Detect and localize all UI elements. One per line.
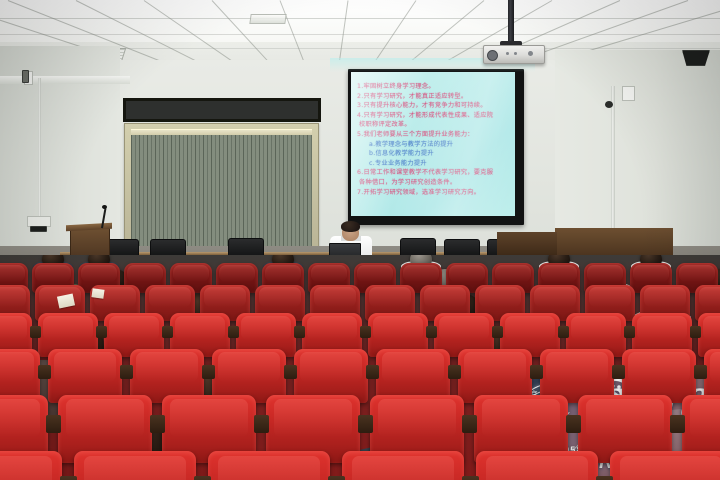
- seat-armrest: [558, 326, 569, 337]
- seat-armrest: [566, 415, 581, 433]
- projector-indicator: [514, 52, 517, 55]
- wall-conduit: [38, 78, 41, 228]
- ceiling-grid-line: [0, 34, 720, 35]
- slide-text-block: 1.牢固树立终身学习理念。2.只有学习研究，才能真正适应转型。3.只有提升核心能…: [357, 82, 509, 197]
- slide-line: 1.牢固树立终身学习理念。: [357, 82, 509, 92]
- slide-line: 3.只有提升核心能力，才有竞争力和可持续。: [357, 101, 509, 111]
- seat-armrest: [690, 326, 701, 337]
- audience-papers: [91, 288, 104, 299]
- wall-junction-box: [622, 86, 635, 101]
- wall-blackboard: [123, 98, 321, 122]
- slide-line: 6.日常工作和课堂教学不代表学习研究，要克服: [357, 168, 509, 178]
- slide-line: 各种借口，为学习研究创造条件。: [357, 178, 509, 188]
- seat-armrest: [46, 415, 61, 433]
- seat-armrest: [670, 415, 685, 433]
- seat-armrest: [150, 415, 165, 433]
- slide-line: 7.开拓学习研究领域，选准学习研究方向。: [357, 188, 509, 198]
- seat-armrest: [462, 476, 479, 480]
- seat-armrest: [30, 326, 41, 337]
- seat-armrest: [96, 326, 107, 337]
- slide-line: b.信息化教学能力提升: [357, 149, 509, 159]
- stage-curtain-panel: [131, 135, 312, 251]
- seat-armrest: [228, 326, 239, 337]
- seat-armrest: [694, 365, 707, 379]
- seat-armrest: [162, 326, 173, 337]
- auditorium-seat[interactable]: [208, 451, 330, 480]
- seat-armrest: [202, 365, 215, 379]
- wall-speaker: [22, 70, 29, 83]
- slide-line: 4.只有学习研究，才能形成代表性成果、适应院: [357, 111, 509, 121]
- projection-screen[interactable]: 1.牢固树立终身学习理念。2.只有学习研究，才能真正适应转型。3.只有提升核心能…: [351, 72, 515, 216]
- slide-line: a.教学理念与教学方法的提升: [357, 140, 509, 150]
- seat-armrest: [360, 326, 371, 337]
- seat-armrest: [38, 365, 51, 379]
- head-table-chair: [444, 239, 480, 256]
- ceiling-light-fixture: [249, 14, 286, 24]
- seat-armrest: [492, 326, 503, 337]
- seat-armrest: [448, 365, 461, 379]
- ceiling-camera: [605, 101, 613, 108]
- projector-indicator: [528, 51, 533, 56]
- projector-mount-pole: [508, 0, 514, 44]
- slide-line: 2.只有学习研究，才能真正适应转型。: [357, 92, 509, 102]
- seat-armrest: [294, 326, 305, 337]
- seat-armrest: [120, 365, 133, 379]
- seat-armrest: [254, 415, 269, 433]
- slide-line: 5.我们老师要从三个方面提升业务能力：: [357, 130, 509, 140]
- seat-armrest: [612, 365, 625, 379]
- seat-armrest: [624, 326, 635, 337]
- slide-line: 校职称评定改革。: [357, 120, 509, 130]
- ceiling-projector: [483, 45, 545, 64]
- head-table-chair: [150, 239, 186, 256]
- seat-armrest: [328, 476, 345, 480]
- seat-armrest: [596, 476, 613, 480]
- wall-outlet: [30, 226, 47, 232]
- seat-armrest: [284, 365, 297, 379]
- auditorium-seat[interactable]: [476, 451, 598, 480]
- auditorium-seat[interactable]: [342, 451, 464, 480]
- seat-armrest: [366, 365, 379, 379]
- stage-curtain-frame: [124, 123, 319, 258]
- ceiling-glow: [0, 0, 720, 42]
- presenter-hair: [341, 221, 360, 232]
- seat-armrest: [462, 415, 477, 433]
- head-table-chair: [228, 238, 264, 256]
- auditorium-seat[interactable]: [74, 451, 196, 480]
- auditorium-seat[interactable]: [0, 451, 62, 480]
- microphone-head: [102, 205, 107, 209]
- seat-armrest: [530, 365, 543, 379]
- projector-lens: [487, 50, 498, 61]
- wall-soffit: [0, 76, 130, 84]
- seat-armrest: [358, 415, 373, 433]
- auditorium-seat[interactable]: [610, 451, 720, 480]
- projector-indicator: [506, 52, 509, 55]
- photograph-lecture-hall: 1.牢固树立终身学习理念。2.只有学习研究，才能真正适应转型。3.只有提升核心能…: [0, 0, 720, 480]
- slide-line: c.专业业务能力提升: [357, 159, 509, 169]
- projection-screen-frame: 1.牢固树立终身学习理念。2.只有学习研究，才能真正适应转型。3.只有提升核心能…: [348, 69, 524, 225]
- head-table-chair: [400, 238, 436, 256]
- wall-wood-panel: [497, 232, 557, 256]
- seat-armrest: [60, 476, 77, 480]
- seat-armrest: [194, 476, 211, 480]
- seat-armrest: [426, 326, 437, 337]
- audience-seating-area: [0, 255, 720, 480]
- ceiling-grid-line: [0, 18, 720, 19]
